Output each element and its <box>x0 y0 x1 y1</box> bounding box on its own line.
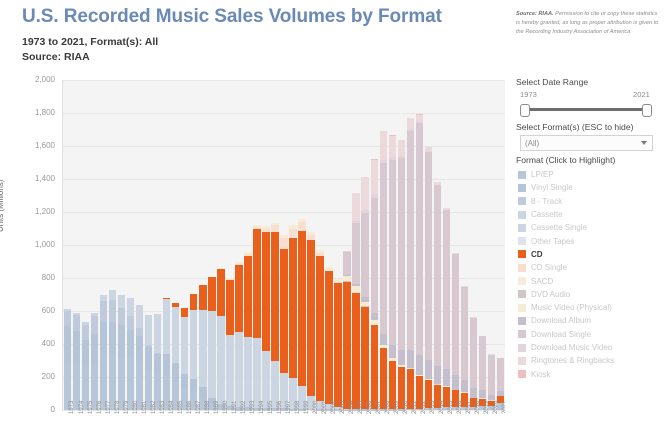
bar-segment[interactable] <box>407 118 414 129</box>
x-axis-tick-label: 2018 <box>475 401 481 414</box>
bar-segment[interactable] <box>361 213 368 297</box>
bar-segment[interactable] <box>389 160 396 345</box>
x-axis-tick-label: 2003 <box>340 401 346 414</box>
legend-item-other-tapes[interactable]: Other Tapes <box>518 234 668 247</box>
legend-swatch <box>518 211 526 219</box>
legend-item-vinyl-single[interactable]: Vinyl Single <box>518 181 668 194</box>
legend-list: LP/EPVinyl Single8 - TrackCassetteCasset… <box>518 168 668 381</box>
y-axis-tick-label: 1,800 <box>0 108 55 117</box>
bar-column[interactable] <box>443 208 450 410</box>
bar-column[interactable] <box>73 313 80 410</box>
x-axis-tick-label: 2017 <box>466 401 472 414</box>
x-axis-tick-label: 2008 <box>385 401 391 414</box>
x-axis-tick-label: 1982 <box>151 401 157 414</box>
bar-segment[interactable] <box>208 311 215 325</box>
x-axis-tick-label: 1980 <box>133 401 139 414</box>
controls-panel: Source: RIAA. Permission to cite or copy… <box>505 0 670 441</box>
bar-column[interactable] <box>100 295 107 410</box>
bar-column[interactable] <box>316 250 323 410</box>
bar-segment[interactable] <box>136 336 143 361</box>
bar-segment-highlighted[interactable] <box>361 307 368 409</box>
bar-segment-highlighted[interactable] <box>235 265 242 332</box>
bar-column[interactable] <box>163 298 170 410</box>
x-axis-tick-label: 2005 <box>358 401 364 414</box>
bar-segment[interactable] <box>380 334 387 345</box>
bar-column[interactable] <box>361 177 368 410</box>
bar-segment[interactable] <box>208 325 215 399</box>
bar-segment[interactable] <box>118 295 125 309</box>
x-axis-tick-label: 2010 <box>403 401 409 414</box>
x-axis-tick-label: 1973 <box>69 401 75 414</box>
legend-swatch <box>518 317 526 325</box>
bar-column[interactable] <box>118 295 125 410</box>
bar-segment[interactable] <box>407 131 414 351</box>
bar-segment[interactable] <box>443 210 450 369</box>
bar-segment[interactable] <box>199 313 206 387</box>
bar-segment[interactable] <box>217 331 224 404</box>
bar-segment[interactable] <box>127 330 134 357</box>
x-axis-tick-label: 1989 <box>214 401 220 414</box>
legend-swatch <box>518 277 526 285</box>
legend-item-dvd-audio[interactable]: DVD Audio <box>518 288 668 301</box>
x-axis-tick-label: 1974 <box>79 401 85 414</box>
legend-item-lp-ep[interactable]: LP/EP <box>518 168 668 181</box>
bar-segment[interactable] <box>416 123 423 356</box>
bar-segment[interactable] <box>488 355 495 395</box>
legend-label: CD <box>531 250 543 259</box>
bar-segment[interactable] <box>244 337 251 351</box>
bar-segment[interactable] <box>253 351 260 408</box>
bar-segment[interactable] <box>235 346 242 406</box>
bar-column[interactable] <box>352 193 359 410</box>
bar-segment[interactable] <box>389 136 396 158</box>
bar-segment[interactable] <box>262 351 269 363</box>
bar-segment[interactable] <box>479 390 486 398</box>
bar-column[interactable] <box>479 336 486 410</box>
bar-column[interactable] <box>325 267 332 410</box>
bar-column[interactable] <box>91 313 98 410</box>
bar-segment[interactable] <box>82 340 89 367</box>
x-axis-tick-label: 1987 <box>196 401 202 414</box>
legend-item-download-single[interactable]: Download Single <box>518 328 668 341</box>
x-axis-tick-label: 2019 <box>484 401 490 414</box>
x-axis-tick-label: 2002 <box>331 401 337 414</box>
bar-segment[interactable] <box>109 290 116 300</box>
legend-swatch <box>518 250 526 258</box>
bar-segment[interactable] <box>271 361 278 371</box>
bar-segment-highlighted[interactable] <box>298 231 305 386</box>
bar-column[interactable] <box>434 182 441 410</box>
y-axis-title: Units (Millions) <box>0 180 5 232</box>
legend-title: Format (Click to Highlight) <box>516 155 615 165</box>
legend-item-download-album[interactable]: Download Album <box>518 314 668 327</box>
bar-column[interactable] <box>262 226 269 410</box>
subtitle-source: Source: RIAA <box>22 51 90 63</box>
x-axis-tick-label: 1988 <box>205 401 211 414</box>
legend-label: Download Album <box>531 316 591 325</box>
bar-column[interactable] <box>307 232 314 410</box>
bar-segment[interactable] <box>226 335 233 347</box>
slider-handle-left[interactable] <box>520 104 530 117</box>
legend-label: Other Tapes <box>531 237 574 246</box>
bar-segment[interactable] <box>64 326 71 364</box>
bar-column[interactable] <box>298 219 305 410</box>
x-axis-tick-label: 2016 <box>457 401 463 414</box>
bar-segment[interactable] <box>127 316 134 330</box>
bar-segment-highlighted[interactable] <box>307 240 314 395</box>
bar-segment[interactable] <box>109 322 116 353</box>
y-axis-tick-label: 1,400 <box>0 174 55 183</box>
bar-segment[interactable] <box>91 334 98 365</box>
bar-segment[interactable] <box>425 152 432 360</box>
bar-segment[interactable] <box>425 360 432 379</box>
x-axis-tick-label: 1992 <box>241 401 247 414</box>
source-note-prefix: Source: RIAA. <box>516 11 554 17</box>
y-axis-tick-label: 200 <box>0 372 55 381</box>
bar-column[interactable] <box>425 147 432 410</box>
bar-segment[interactable] <box>190 379 197 393</box>
x-axis-tick-label: 1999 <box>304 401 310 414</box>
bar-column[interactable] <box>82 322 89 410</box>
x-axis-tick-label: 1975 <box>88 401 94 414</box>
gridline <box>63 113 505 114</box>
legend-swatch <box>518 264 526 272</box>
x-axis-tick-label: 1983 <box>160 401 166 414</box>
bar-segment-highlighted[interactable] <box>343 282 350 409</box>
format-select-label: Select Format(s) (ESC to hide) <box>516 122 633 132</box>
bar-segment[interactable] <box>479 336 486 390</box>
x-axis-tick-label: 2011 <box>412 401 418 414</box>
x-axis-tick-label: 2006 <box>367 401 373 414</box>
bar-segment[interactable] <box>443 369 450 386</box>
bar-segment[interactable] <box>172 307 179 363</box>
legend-label: LP/EP <box>531 170 554 179</box>
bar-segment[interactable] <box>172 363 179 383</box>
bar-segment-highlighted[interactable] <box>289 238 296 378</box>
legend-item-kiosk[interactable]: Kiosk <box>518 367 668 380</box>
legend-label: 8 - Track <box>531 197 562 206</box>
bar-segment[interactable] <box>100 301 107 322</box>
bar-segment-highlighted[interactable] <box>262 232 269 351</box>
legend-label: Vinyl Single <box>531 183 573 192</box>
x-axis-tick-label: 1985 <box>178 401 184 414</box>
legend-swatch <box>518 290 526 298</box>
bar-segment-highlighted[interactable] <box>226 280 233 335</box>
bar-segment[interactable] <box>163 299 170 354</box>
format-select-dropdown[interactable]: (All) <box>520 135 653 151</box>
legend-swatch <box>518 237 526 245</box>
bar-column[interactable] <box>416 114 423 410</box>
legend-item-music-video-physical[interactable]: Music Video (Physical) <box>518 301 668 314</box>
bar-column[interactable] <box>452 253 459 410</box>
legend-label: Music Video (Physical) <box>531 303 612 312</box>
bar-column[interactable] <box>380 131 387 410</box>
x-axis-tick-label: 1997 <box>286 401 292 414</box>
x-axis-tick-label: 1979 <box>124 401 130 414</box>
legend-label: Cassette <box>531 210 563 219</box>
slider-track[interactable] <box>524 108 646 111</box>
slider-handle-right[interactable] <box>642 104 652 117</box>
bar-segment-highlighted[interactable] <box>316 256 323 401</box>
bar-segment-highlighted[interactable] <box>199 285 206 310</box>
bar-segment[interactable] <box>136 305 143 328</box>
bar-segment[interactable] <box>298 222 305 231</box>
bar-segment[interactable] <box>416 355 423 374</box>
bar-segment[interactable] <box>73 315 80 331</box>
x-axis-tick-label: 2004 <box>349 401 355 414</box>
x-axis-tick-label: 2007 <box>376 401 382 414</box>
x-axis-tick-label: 1976 <box>97 401 103 414</box>
x-axis-tick-label: 1996 <box>277 401 283 414</box>
bar-column[interactable] <box>154 314 161 410</box>
bar-segment-highlighted[interactable] <box>217 269 224 316</box>
bar-segment[interactable] <box>235 332 242 346</box>
bar-column[interactable] <box>371 159 378 410</box>
bar-segment-highlighted[interactable] <box>334 283 341 406</box>
x-axis-tick-label: 1991 <box>232 401 238 414</box>
source-permission-note: Source: RIAA. Permission to cite or copy… <box>516 10 659 38</box>
bar-segment[interactable] <box>82 325 89 341</box>
x-axis-tick-label: 1981 <box>142 401 148 414</box>
x-axis-tick-label: 2009 <box>394 401 400 414</box>
x-axis-tick-label: 2000 <box>313 401 319 414</box>
bar-segment[interactable] <box>343 252 350 275</box>
bar-column[interactable] <box>145 315 152 410</box>
bar-segment-highlighted[interactable] <box>352 293 359 409</box>
bar-segment[interactable] <box>154 314 161 353</box>
legend-swatch <box>518 184 526 192</box>
bar-segment[interactable] <box>398 140 405 156</box>
bar-column[interactable] <box>64 309 71 410</box>
bar-segment[interactable] <box>352 193 359 221</box>
bar-segment-highlighted[interactable] <box>271 232 278 361</box>
bar-segment[interactable] <box>271 225 278 232</box>
bar-column[interactable] <box>470 317 477 410</box>
bar-column[interactable] <box>398 140 405 410</box>
bar-segment[interactable] <box>145 347 152 370</box>
bar-segment[interactable] <box>470 388 477 398</box>
bar-segment[interactable] <box>398 158 405 351</box>
bar-segment[interactable] <box>280 373 287 380</box>
bar-segment[interactable] <box>434 185 441 366</box>
bar-segment[interactable] <box>497 358 504 391</box>
page-title: U.S. Recorded Music Sales Volumes by For… <box>22 6 442 28</box>
bar-segment[interactable] <box>109 300 116 322</box>
y-axis-tick-label: 2,000 <box>0 75 55 84</box>
bar-segment-highlighted[interactable] <box>253 229 260 338</box>
bar-column[interactable] <box>208 277 215 410</box>
x-axis-tick-label: 1984 <box>169 401 175 414</box>
x-axis-tick-label: 2020 <box>493 401 499 414</box>
legend-item-cd[interactable]: CD <box>518 248 668 261</box>
chart-container: Units (Millions) 02004006008001,0001,200… <box>0 72 505 441</box>
bar-segment-highlighted[interactable] <box>208 277 215 311</box>
bar-segment[interactable] <box>452 375 459 390</box>
bar-column[interactable] <box>343 251 350 410</box>
bar-column[interactable] <box>389 135 396 410</box>
bar-segment[interactable] <box>127 298 134 316</box>
legend-item-cassette[interactable]: Cassette <box>518 208 668 221</box>
x-axis-tick-label: 1994 <box>259 401 265 414</box>
bar-segment[interactable] <box>461 380 468 392</box>
x-axis-tick-label: 1986 <box>187 401 193 414</box>
bar-column[interactable] <box>127 298 134 411</box>
bar-column[interactable] <box>271 223 278 410</box>
legend-swatch <box>518 224 526 232</box>
bar-segment[interactable] <box>226 346 233 405</box>
bar-segment[interactable] <box>407 350 414 367</box>
bar-segment[interactable] <box>289 229 296 238</box>
y-axis-tick-label: 1,200 <box>0 207 55 216</box>
bar-segment[interactable] <box>244 351 251 407</box>
y-axis-tick-label: 1,600 <box>0 141 55 150</box>
bar-segment[interactable] <box>389 345 396 358</box>
legend-item-cassette-single[interactable]: Cassette Single <box>518 221 668 234</box>
bar-column[interactable] <box>253 225 260 410</box>
x-axis-tick-label: 1993 <box>250 401 256 414</box>
legend-item-cd-single[interactable]: CD Single <box>518 261 668 274</box>
bar-segment[interactable] <box>181 374 188 389</box>
bar-segment[interactable] <box>217 316 224 330</box>
format-select-value: (All) <box>521 139 539 148</box>
x-axis-tick-label: 1995 <box>268 401 274 414</box>
bar-segment[interactable] <box>154 354 161 375</box>
bar-segment-highlighted[interactable] <box>190 294 197 311</box>
bar-segment[interactable] <box>371 198 378 313</box>
x-axis-tick-label: 2012 <box>421 401 427 414</box>
y-axis-tick-label: 400 <box>0 339 55 348</box>
gridline <box>63 146 505 147</box>
x-axis-tick-label: 2015 <box>448 401 454 414</box>
legend-swatch <box>518 304 526 312</box>
bar-segment-highlighted[interactable] <box>244 256 251 338</box>
legend-label: Download Single <box>531 330 591 339</box>
bar-segment[interactable] <box>181 317 188 374</box>
chevron-down-icon <box>641 141 647 145</box>
legend-swatch <box>518 370 526 378</box>
bar-segment[interactable] <box>352 223 359 284</box>
bar-column[interactable] <box>334 279 341 410</box>
bar-column[interactable] <box>109 290 116 410</box>
gridline <box>63 179 505 180</box>
bar-column[interactable] <box>190 294 197 410</box>
legend-item-download-music-video[interactable]: Download Music Video <box>518 341 668 354</box>
bar-segment[interactable] <box>163 354 170 376</box>
bar-column[interactable] <box>181 308 188 410</box>
bar-column[interactable] <box>407 118 414 410</box>
date-range-max-value: 2021 <box>633 90 650 99</box>
date-range-label: Select Date Range <box>516 77 588 87</box>
bar-segment-highlighted[interactable] <box>280 249 287 373</box>
bar-segment[interactable] <box>118 325 125 357</box>
bar-column[interactable] <box>217 268 224 411</box>
bar-column[interactable] <box>226 278 233 410</box>
legend-label: Download Music Video <box>531 343 612 352</box>
subtitle-range: 1973 to 2021, Format(s): All <box>22 36 158 48</box>
bar-segment[interactable] <box>190 311 197 379</box>
legend-swatch <box>518 357 526 365</box>
bar-column[interactable] <box>199 285 206 410</box>
legend-label: DVD Audio <box>531 290 570 299</box>
bar-segment[interactable] <box>91 316 98 333</box>
y-axis-tick-label: 0 <box>0 405 55 414</box>
legend-item-8-track[interactable]: 8 - Track <box>518 195 668 208</box>
bar-segment[interactable] <box>136 328 143 336</box>
y-axis-tick-label: 800 <box>0 273 55 282</box>
legend-swatch <box>518 171 526 179</box>
legend-item-sacd[interactable]: SACD <box>518 274 668 287</box>
bar-column[interactable] <box>289 225 296 410</box>
bar-segment[interactable] <box>461 287 468 380</box>
bar-segment[interactable] <box>371 313 378 320</box>
bar-segment[interactable] <box>371 160 378 195</box>
bar-segment[interactable] <box>434 366 441 384</box>
bar-segment[interactable] <box>100 322 107 353</box>
bar-segment[interactable] <box>118 308 125 325</box>
bar-column[interactable] <box>244 252 251 410</box>
bar-segment[interactable] <box>280 238 287 249</box>
bar-segment[interactable] <box>64 311 71 326</box>
x-axis-tick-label: 1998 <box>295 401 301 414</box>
bar-column[interactable] <box>280 235 287 410</box>
date-range-min-value: 1973 <box>520 90 537 99</box>
bar-segment[interactable] <box>199 387 206 398</box>
bar-segment-highlighted[interactable] <box>371 325 378 409</box>
x-axis-tick-label: 1990 <box>223 401 229 414</box>
bar-segment[interactable] <box>380 163 387 333</box>
bar-segment[interactable] <box>470 318 477 388</box>
legend-label: Cassette Single <box>531 223 587 232</box>
legend-label: Kiosk <box>531 370 551 379</box>
x-axis-tick-label: 2013 <box>430 401 436 414</box>
bar-column[interactable] <box>235 262 242 410</box>
x-axis-tick-label: 1978 <box>115 401 121 414</box>
legend-swatch <box>518 197 526 205</box>
legend-swatch <box>518 330 526 338</box>
legend-swatch <box>518 344 526 352</box>
bar-segment[interactable] <box>253 338 260 351</box>
x-axis-tick-label: 2014 <box>439 401 445 414</box>
bar-segment[interactable] <box>145 315 152 345</box>
bar-column[interactable] <box>136 305 143 410</box>
bar-segment[interactable] <box>361 177 368 210</box>
bar-segment-highlighted[interactable] <box>325 271 332 403</box>
bar-segment[interactable] <box>398 350 405 365</box>
x-axis-tick-label: 1977 <box>106 401 112 414</box>
x-axis-tick-label: 2001 <box>322 401 328 414</box>
bar-segment[interactable] <box>416 115 423 122</box>
legend-label: CD Single <box>531 263 567 272</box>
bar-segment[interactable] <box>452 254 459 375</box>
legend-label: SACD <box>531 277 553 286</box>
bar-segment-highlighted[interactable] <box>181 308 188 317</box>
y-axis-tick-label: 1,000 <box>0 240 55 249</box>
bar-segment[interactable] <box>380 131 387 160</box>
legend-item-ringtones-ringbacks[interactable]: Ringtones & Ringbacks <box>518 354 668 367</box>
legend-label: Ringtones & Ringbacks <box>531 356 614 365</box>
gridline <box>63 80 505 81</box>
bar-segment[interactable] <box>73 331 80 365</box>
bar-column[interactable] <box>461 286 468 410</box>
date-range-slider[interactable] <box>520 104 650 115</box>
dashboard-header: U.S. Recorded Music Sales Volumes by For… <box>0 0 505 72</box>
bar-column[interactable] <box>172 303 179 410</box>
bars-layer <box>63 80 505 410</box>
y-axis-tick-label: 600 <box>0 306 55 315</box>
